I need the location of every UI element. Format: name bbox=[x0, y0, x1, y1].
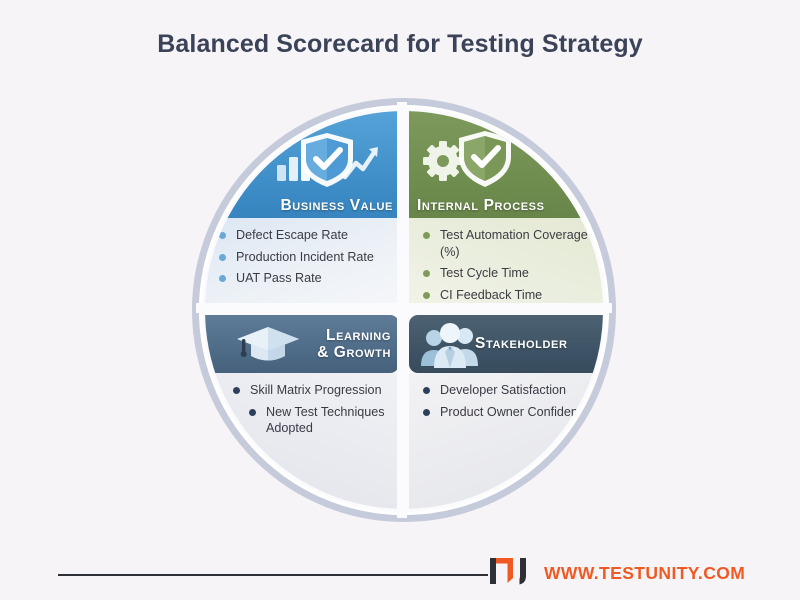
metric-item: Defect Escape Rate bbox=[219, 227, 391, 244]
footer-brand[interactable]: WWW.TESTUNITY.COM bbox=[490, 556, 745, 591]
quadrant-title-line2: & Growth bbox=[317, 344, 391, 361]
gear-shield-check-icon bbox=[419, 129, 519, 191]
metric-item: Skill Matrix Progression bbox=[233, 382, 391, 399]
quadrant-body-business-value: Defect Escape Rate Production Incident R… bbox=[205, 218, 399, 305]
quadrant-body-stakeholder: Developer Satisfaction Product Owner Con… bbox=[409, 373, 603, 509]
quadrant-title-business-value: Business Value bbox=[281, 197, 393, 214]
metric-item: Test Cycle Time bbox=[423, 265, 595, 282]
page-title: Balanced Scorecard for Testing Strategy bbox=[0, 30, 800, 59]
quadrant-title-line1: Learning bbox=[326, 327, 391, 344]
metric-item: UAT Pass Rate bbox=[219, 270, 391, 287]
quadrant-business-value[interactable]: Business Value bbox=[205, 111, 399, 305]
metric-item: Test Automation Coverage (%) bbox=[423, 227, 595, 260]
shield-check-bar-chart-growth-icon bbox=[271, 129, 383, 191]
metric-list-learning-growth: Skill Matrix Progression New Test Techni… bbox=[233, 382, 391, 437]
metric-item: CI Feedback Time bbox=[423, 287, 595, 304]
quadrant-title-stakeholder: Stakeholder bbox=[475, 335, 568, 352]
testunity-logo-icon bbox=[490, 556, 534, 591]
balanced-scorecard-wheel: Business Value bbox=[192, 98, 616, 522]
metric-item: Production Incident Rate bbox=[219, 249, 391, 266]
quadrant-title-learning-growth: Learning & Growth bbox=[317, 327, 391, 362]
graduation-cap-icon bbox=[235, 321, 301, 369]
metric-list-internal-process: Test Automation Coverage (%) Test Cycle … bbox=[423, 227, 595, 304]
quadrant-title-internal-process: Internal Process bbox=[417, 197, 545, 214]
people-group-icon bbox=[419, 321, 481, 369]
metric-item: Developer Satisfaction bbox=[423, 382, 595, 399]
quadrant-divider-horizontal bbox=[196, 303, 612, 313]
metric-list-stakeholder: Developer Satisfaction Product Owner Con… bbox=[423, 382, 595, 420]
quadrant-learning-growth[interactable]: Learning & Growth Skill Matrix Progressi… bbox=[205, 315, 399, 509]
metric-item: New Test Techniques Adopted bbox=[249, 404, 391, 437]
quadrant-body-learning-growth: Skill Matrix Progression New Test Techni… bbox=[205, 373, 399, 509]
quadrant-stakeholder[interactable]: Stakeholder De bbox=[409, 315, 603, 509]
metric-list-business-value: Defect Escape Rate Production Incident R… bbox=[219, 227, 391, 287]
footer-divider bbox=[58, 574, 488, 576]
footer-url[interactable]: WWW.TESTUNITY.COM bbox=[544, 563, 745, 584]
quadrant-internal-process[interactable]: Internal Process bbox=[409, 111, 603, 305]
quadrant-body-internal-process: Test Automation Coverage (%) Test Cycle … bbox=[409, 218, 603, 305]
metric-item: Product Owner Confidence bbox=[423, 404, 595, 421]
